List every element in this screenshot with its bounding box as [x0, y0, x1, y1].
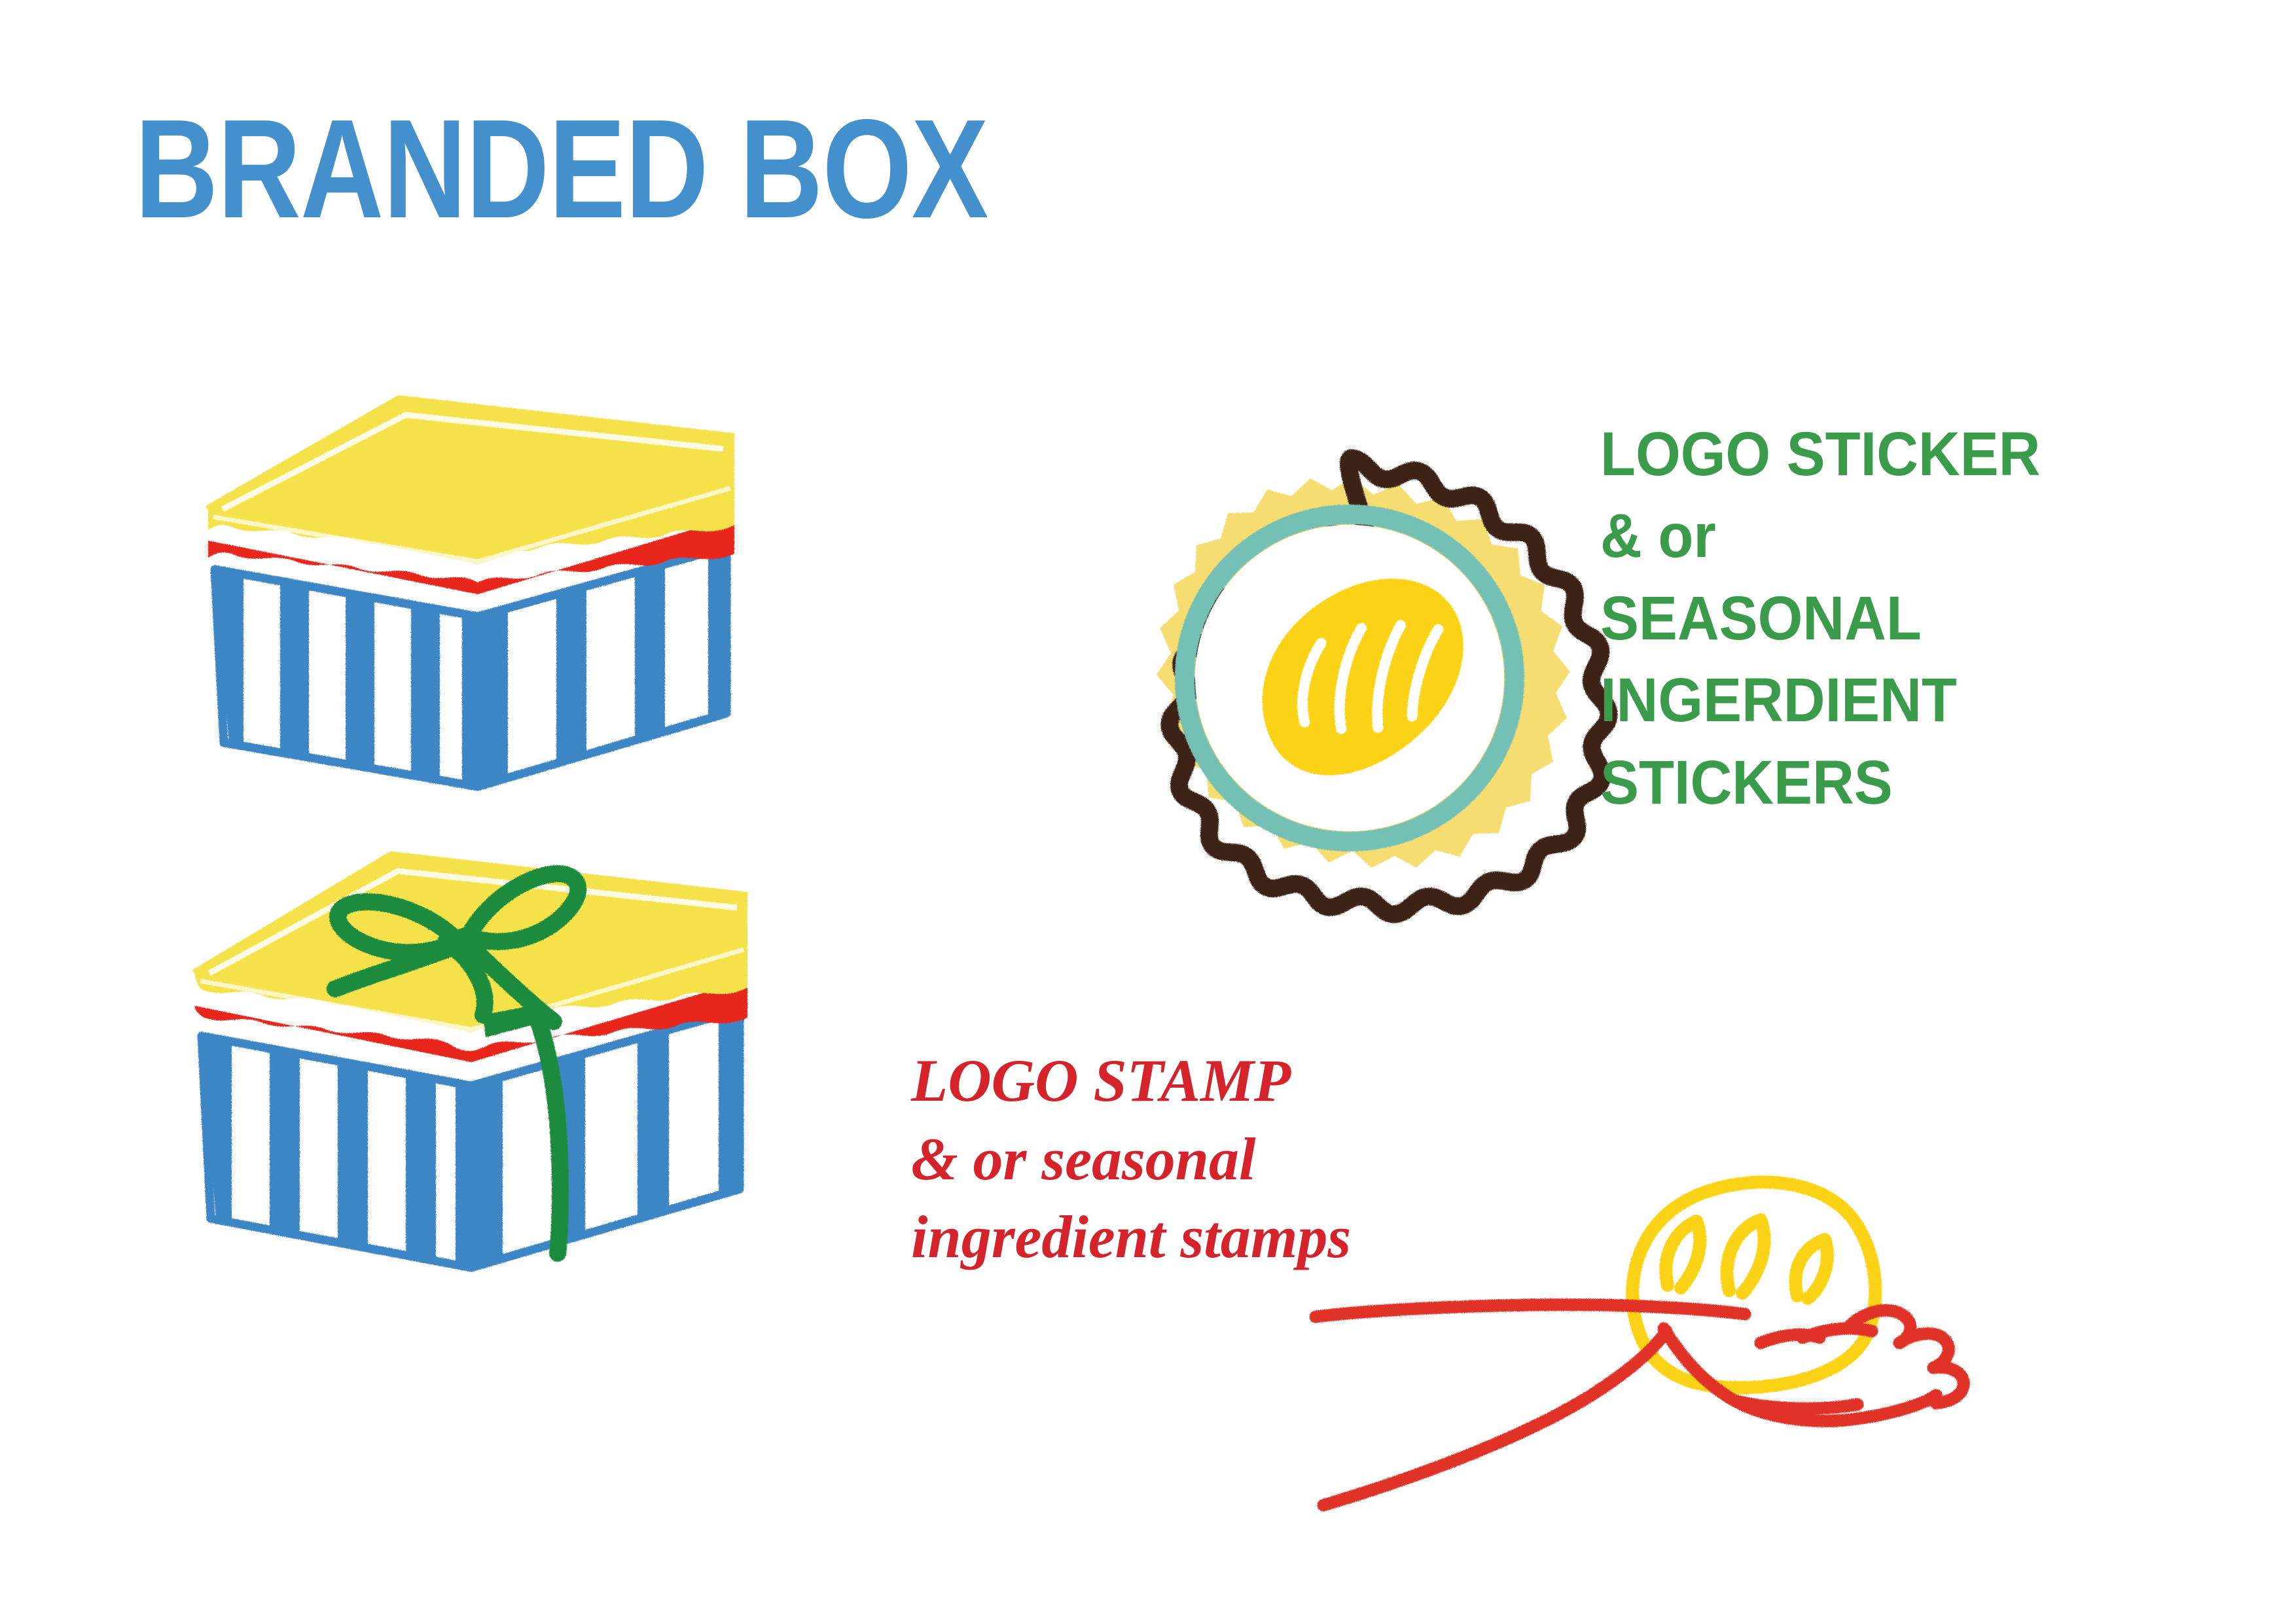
sticker-callout-line-5: STICKERS	[1600, 742, 2040, 824]
logo-stamp-callout: LOGO STAMP & or seasonal ingredient stam…	[911, 1042, 1351, 1277]
sticker-callout-line-1: LOGO STICKER	[1600, 414, 2040, 495]
page-title: BRANDED BOX	[135, 98, 988, 239]
stamp-callout-line-1: LOGO STAMP	[911, 1042, 1351, 1120]
sticker-callout-line-4: INGERDIENT	[1600, 660, 2040, 741]
logo-sticker-callout: LOGO STICKER & or SEASONAL INGERDIENT ST…	[1600, 414, 2040, 824]
branded-box-plain-illustration	[203, 386, 740, 805]
stamp-callout-line-2: & or seasonal	[911, 1120, 1351, 1199]
stamp-callout-line-3: ingredient stamps	[911, 1198, 1351, 1277]
sticker-callout-line-2: & or	[1600, 495, 2040, 577]
branded-box-with-ribbon-illustration	[190, 828, 766, 1286]
logo-sticker-badge-illustration	[1093, 419, 1610, 936]
hand-holding-bread-illustration	[1302, 1113, 2081, 1538]
poster-canvas: BRANDED BOX	[0, 0, 2296, 1623]
sticker-callout-line-3: SEASONAL	[1600, 578, 2040, 660]
box-lid-top	[208, 401, 734, 564]
bread-loaf-outline	[1632, 1182, 1875, 1387]
